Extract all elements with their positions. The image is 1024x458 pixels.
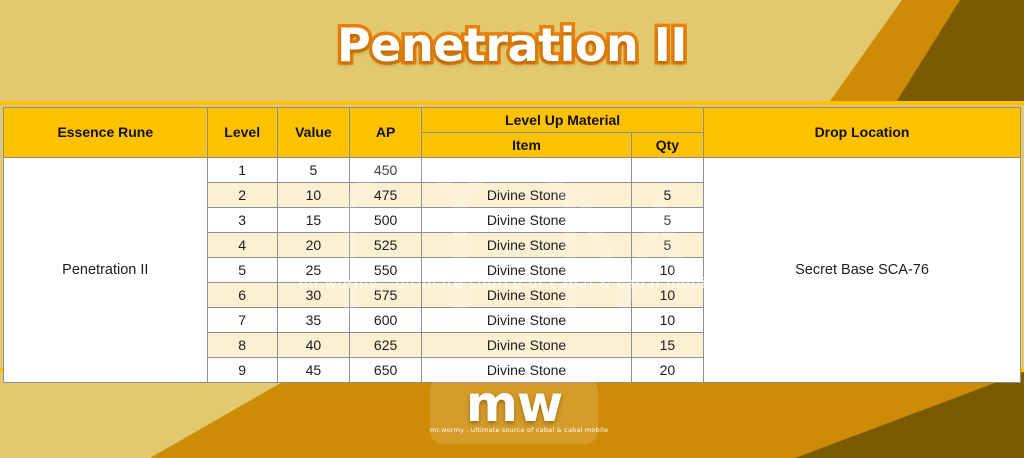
cell-item: Divine Stone [422, 333, 632, 358]
page-title-container: Penetration II [0, 18, 1024, 72]
cell-qty [631, 158, 703, 183]
cell-level: 5 [207, 258, 277, 283]
cell-qty: 5 [631, 233, 703, 258]
cell-ap: 475 [350, 183, 422, 208]
page-title: Penetration II [337, 18, 687, 72]
cell-item: Divine Stone [422, 283, 632, 308]
cell-rune-name: Penetration II [4, 158, 208, 383]
cell-value: 35 [277, 308, 349, 333]
cell-item: Divine Stone [422, 233, 632, 258]
cell-ap: 450 [350, 158, 422, 183]
cell-qty: 15 [631, 333, 703, 358]
cell-qty: 20 [631, 358, 703, 383]
cell-level: 4 [207, 233, 277, 258]
cell-value: 10 [277, 183, 349, 208]
cell-level: 8 [207, 333, 277, 358]
cell-level: 9 [207, 358, 277, 383]
header-drop-location: Drop Location [704, 108, 1021, 158]
cell-level: 3 [207, 208, 277, 233]
cell-qty: 5 [631, 183, 703, 208]
cell-level: 1 [207, 158, 277, 183]
cell-item: Divine Stone [422, 308, 632, 333]
header-level-up-material: Level Up Material [422, 108, 704, 133]
cell-ap: 500 [350, 208, 422, 233]
cell-value: 25 [277, 258, 349, 283]
cell-level: 2 [207, 183, 277, 208]
table-row: Penetration II15450Secret Base SCA-76 [4, 158, 1021, 183]
cell-qty: 10 [631, 283, 703, 308]
cell-value: 5 [277, 158, 349, 183]
table-body: Penetration II15450Secret Base SCA-76210… [4, 158, 1021, 383]
cell-value: 20 [277, 233, 349, 258]
logo-tagline: mr.wormy . ultimate source of cabal & ca… [430, 426, 598, 434]
header-row-top: Essence Rune Level Value AP Level Up Mat… [4, 108, 1021, 133]
cell-ap: 525 [350, 233, 422, 258]
cell-item: Divine Stone [422, 258, 632, 283]
cell-ap: 550 [350, 258, 422, 283]
cell-qty: 5 [631, 208, 703, 233]
rune-table-container: Essence Rune Level Value AP Level Up Mat… [3, 107, 1021, 366]
cell-qty: 10 [631, 258, 703, 283]
cell-value: 45 [277, 358, 349, 383]
cell-value: 40 [277, 333, 349, 358]
logo-mark-text: mw [430, 378, 598, 430]
header-ap: AP [350, 108, 422, 158]
header-essence-rune: Essence Rune [4, 108, 208, 158]
cell-value: 30 [277, 283, 349, 308]
cell-ap: 600 [350, 308, 422, 333]
cell-drop-location: Secret Base SCA-76 [704, 158, 1021, 383]
cell-item: Divine Stone [422, 183, 632, 208]
cell-ap: 575 [350, 283, 422, 308]
cell-qty: 10 [631, 308, 703, 333]
cell-item [422, 158, 632, 183]
header-qty: Qty [631, 133, 703, 158]
table-header: Essence Rune Level Value AP Level Up Mat… [4, 108, 1021, 158]
header-level: Level [207, 108, 277, 158]
cell-item: Divine Stone [422, 208, 632, 233]
mw-logo: mw mr.wormy . ultimate source of cabal &… [430, 378, 598, 444]
cell-level: 6 [207, 283, 277, 308]
cell-ap: 625 [350, 333, 422, 358]
header-value: Value [277, 108, 349, 158]
header-item: Item [422, 133, 632, 158]
essence-rune-table: Essence Rune Level Value AP Level Up Mat… [3, 107, 1021, 383]
cell-level: 7 [207, 308, 277, 333]
cell-value: 15 [277, 208, 349, 233]
cell-ap: 650 [350, 358, 422, 383]
